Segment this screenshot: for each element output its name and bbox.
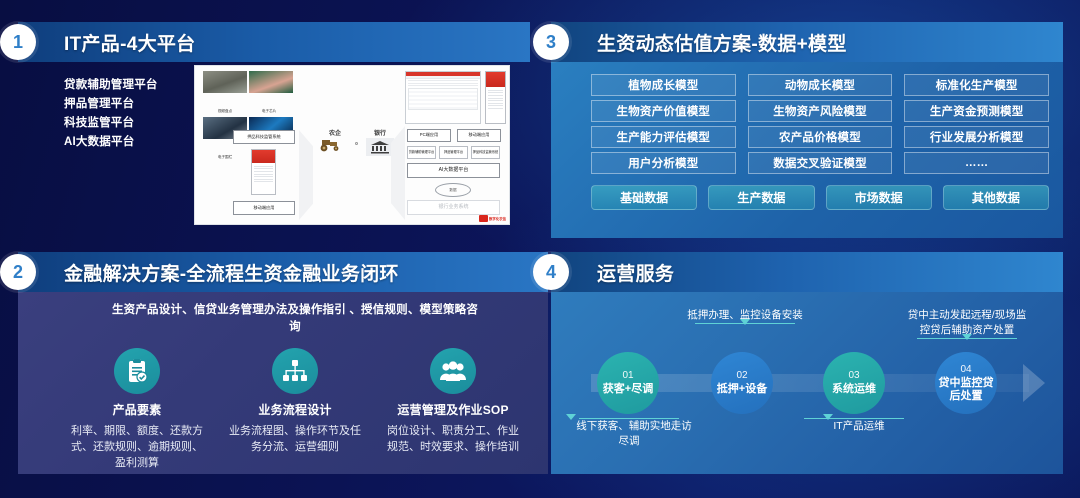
flow-arrow-icon	[1023, 364, 1045, 402]
agri-label: 农企	[317, 128, 353, 137]
thumb-caption-3: 电子围栏	[203, 155, 247, 160]
note-divider	[804, 418, 904, 419]
flow-step-03-number: 03	[848, 370, 859, 381]
box-small-1: 贷款辅助管理平台	[407, 146, 436, 159]
bank-icon	[370, 140, 390, 154]
note-pointer-icon	[823, 414, 833, 432]
flow-step-04[interactable]: 04 贷中监控贷后处置	[935, 352, 997, 414]
box-bank-system: 银行业务系统	[407, 200, 500, 215]
model-cell[interactable]: 数据交叉验证模型	[748, 152, 893, 174]
model-cell[interactable]: 植物成长模型	[591, 74, 736, 96]
panel4-number-badge: 4	[533, 254, 569, 290]
solution-heading: 运营管理及作业SOP	[382, 401, 524, 418]
panel2-number-badge: 2	[0, 254, 36, 290]
box-supervision-system: 押品科技监管系统	[233, 130, 295, 144]
architecture-diagram-image: 视频盘点电子芯片 电子围栏智能猪脸 押品科技监管系统 移动端应用 农企	[194, 65, 510, 225]
agri-enterprise-node: 农企	[317, 128, 353, 152]
panel3-number-badge: 3	[533, 24, 569, 60]
panel3-body: 植物成长模型 动物成长模型 标准化生产模型 生物资产价值模型 生物资产风险模型 …	[551, 62, 1063, 238]
box-small-2: 押品管理平台	[439, 146, 468, 159]
sitemap-icon	[272, 348, 318, 394]
model-grid: 植物成长模型 动物成长模型 标准化生产模型 生物资产价值模型 生物资产风险模型 …	[591, 74, 1049, 174]
model-cell[interactable]: 生产资金预测模型	[904, 100, 1049, 122]
platform-item-3: 科技监管平台	[64, 114, 194, 133]
note-below-step3-text: IT产品运维	[833, 420, 884, 432]
flow-step-03[interactable]: 03 系统运维	[823, 352, 885, 414]
box-mobile-app-left: 移动端应用	[233, 201, 295, 215]
box-small-1-label: 贷款辅助管理平台	[409, 151, 435, 155]
bank-icon-wrap	[366, 138, 394, 156]
funnel-left	[299, 130, 313, 220]
clipboard-check-icon	[114, 348, 160, 394]
solution-column: 产品要素 利率、期限、额度、还款方式、还款规则、逾期规则、盈利测算	[58, 348, 216, 471]
note-divider	[579, 418, 679, 419]
platform-item-4: AI大数据平台	[64, 133, 194, 152]
panel1-header: 1 IT产品-4大平台	[18, 22, 530, 62]
panel2-subtitle: 生资产品设计、信贷业务管理办法及操作指引 、授信规则、模型策略咨询	[58, 302, 532, 336]
model-cell[interactable]: 行业发展分析模型	[904, 126, 1049, 148]
panel1-title: IT产品-4大平台	[64, 29, 195, 56]
panel-financial-solution: 2 金融解决方案-全流程生资金融业务闭环 生资产品设计、信贷业务管理办法及操作指…	[18, 252, 548, 474]
data-exchange-ring: 数据	[435, 183, 471, 197]
data-source-button[interactable]: 基础数据	[591, 185, 697, 210]
solution-column: 运营管理及作业SOP 岗位设计、职责分工、作业规范、时效要求、操作培训	[374, 348, 532, 471]
note-pointer-icon	[962, 334, 972, 352]
tractor-icon	[317, 138, 343, 152]
panel-valuation-scheme: 3 生资动态估值方案-数据+模型 植物成长模型 动物成长模型 标准化生产模型 生…	[551, 22, 1063, 238]
data-source-button[interactable]: 其他数据	[943, 185, 1049, 210]
model-cell[interactable]: 动物成长模型	[748, 74, 893, 96]
flow-step-02[interactable]: 02 抵押+设备	[711, 352, 773, 414]
note-above-step4-text: 贷中主动发起远程/现场监控贷后辅助资产处置	[908, 309, 1026, 336]
model-cell[interactable]: 生物资产风险模型	[748, 100, 893, 122]
note-below-step3: IT产品运维	[790, 418, 918, 434]
note-above-step2: 抵押办理、监控设备安装	[681, 308, 809, 339]
flow-step-03-title: 系统运维	[832, 383, 876, 396]
flow-step-01-title: 获客+尽调	[603, 383, 653, 396]
thumb-caption-1: 视频盘点	[203, 109, 247, 114]
note-pointer-icon	[566, 414, 576, 432]
platform-item-1: 贷款辅助管理平台	[64, 76, 194, 95]
solution-body: 业务流程图、操作环节及任务分流、运营细则	[224, 423, 366, 455]
box-small-2-label: 押品管理平台	[444, 151, 463, 155]
model-cell[interactable]: 标准化生产模型	[904, 74, 1049, 96]
phone-rows-right	[486, 87, 505, 111]
thumbnail-chip	[249, 71, 293, 93]
panel4-title: 运营服务	[597, 259, 674, 286]
panel2-title: 金融解决方案-全流程生资金融业务闭环	[64, 259, 399, 286]
users-icon	[430, 348, 476, 394]
data-source-button[interactable]: 市场数据	[826, 185, 932, 210]
phone-header-right	[486, 72, 505, 87]
panel3-header: 3 生资动态估值方案-数据+模型	[551, 22, 1063, 62]
thumbnail-video-count	[203, 71, 247, 93]
slide-canvas: 1 IT产品-4大平台 贷款辅助管理平台 押品管理平台 科技监管平台 AI大数据…	[0, 0, 1080, 498]
bank-label: 银行	[362, 128, 398, 137]
flow-step-01-number: 01	[622, 370, 633, 381]
connector-dot	[355, 142, 358, 145]
model-cell[interactable]: 农产品价格模型	[748, 126, 893, 148]
panel2-body: 生资产品设计、信贷业务管理办法及操作指引 、授信规则、模型策略咨询	[18, 292, 548, 474]
model-cell[interactable]: ……	[904, 152, 1049, 174]
solution-heading: 产品要素	[66, 401, 208, 418]
data-source-row: 基础数据 生产数据 市场数据 其他数据	[591, 185, 1049, 210]
panel3-title: 生资动态估值方案-数据+模型	[597, 29, 847, 56]
panel4-body: 抵押办理、监控设备安装 贷中主动发起远程/现场监控贷后辅助资产处置 01 获客+…	[551, 292, 1063, 474]
panel1-number-badge: 1	[0, 24, 36, 60]
box-pc-app: PC端应用	[407, 129, 451, 142]
platform-list: 贷款辅助管理平台 押品管理平台 科技监管平台 AI大数据平台	[18, 62, 194, 232]
data-source-button[interactable]: 生产数据	[708, 185, 814, 210]
phone-mockup-right	[485, 71, 506, 124]
panel2-header: 2 金融解决方案-全流程生资金融业务闭环	[18, 252, 548, 292]
phone-rows	[252, 163, 275, 185]
solution-body: 利率、期限、额度、还款方式、还款规则、逾期规则、盈利测算	[66, 423, 208, 471]
phone-mockup-left	[251, 149, 276, 195]
flow-step-02-title: 抵押+设备	[717, 383, 767, 396]
company-logo: 数字化农信	[479, 215, 506, 222]
solution-column: 业务流程设计 业务流程图、操作环节及任务分流、运营细则	[216, 348, 374, 471]
note-pointer-icon	[740, 319, 750, 337]
note-below-step1-text: 线下获客、辅助实地走访尽调	[576, 420, 692, 447]
panel1-body: 贷款辅助管理平台 押品管理平台 科技监管平台 AI大数据平台 视频盘点电子芯片 …	[18, 62, 530, 232]
flow-step-01[interactable]: 01 获客+尽调	[597, 352, 659, 414]
solution-columns: 产品要素 利率、期限、额度、还款方式、还款规则、逾期规则、盈利测算	[58, 348, 532, 471]
flow-step-02-number: 02	[736, 370, 747, 381]
box-small-3: 押品科技监管系统	[471, 146, 500, 159]
model-cell[interactable]: 生物资产价值模型	[591, 100, 736, 122]
box-ai-platform: AI大数据平台	[407, 163, 500, 178]
logo-mark-icon	[479, 215, 488, 222]
pc-form-lines	[406, 80, 480, 86]
solution-heading: 业务流程设计	[224, 401, 366, 418]
data-exchange-label: 数据	[449, 188, 456, 193]
phone-header	[252, 150, 275, 163]
flow-step-04-number: 04	[960, 364, 971, 375]
note-above-step4: 贷中主动发起远程/现场监控贷后辅助资产处置	[903, 308, 1031, 354]
pc-toolbar	[406, 76, 480, 79]
panel-operation-service: 4 运营服务 抵押办理、监控设备安装 贷中主动发起远程/现场监控贷后辅助资产处置…	[551, 252, 1063, 474]
box-mobile-app-right: 移动端应用	[457, 129, 501, 142]
panel4-header: 4 运营服务	[551, 252, 1063, 292]
model-cell[interactable]: 生产能力评估模型	[591, 126, 736, 148]
flow-step-04-title: 贷中监控贷后处置	[935, 377, 997, 403]
solution-body: 岗位设计、职责分工、作业规范、时效要求、操作培训	[382, 423, 524, 455]
thumb-caption-2: 电子芯片	[247, 109, 291, 114]
model-cell[interactable]: 用户分析模型	[591, 152, 736, 174]
logo-text: 数字化农信	[489, 217, 506, 221]
note-below-step1: 线下获客、辅助实地走访尽调	[565, 418, 693, 449]
panel-it-products: 1 IT产品-4大平台 贷款辅助管理平台 押品管理平台 科技监管平台 AI大数据…	[18, 22, 530, 232]
box-small-3-label: 押品科技监管系统	[473, 151, 499, 155]
pc-dashboard-mockup	[405, 71, 481, 124]
pc-data-table	[408, 88, 478, 110]
platform-item-2: 押品管理平台	[64, 95, 194, 114]
